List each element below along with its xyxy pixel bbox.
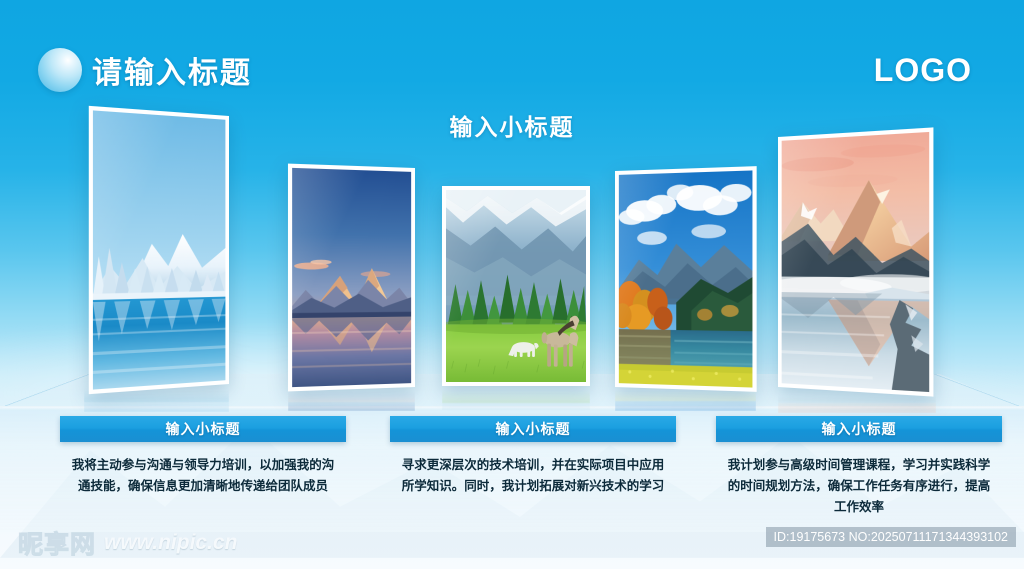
- photo-panel-3[interactable]: [442, 186, 590, 386]
- card-body-text: 我将主动参与沟通与领导力培训，以加强我的沟通技能，确保信息更加清晰地传递给团队成…: [60, 455, 346, 497]
- photo-panel-2[interactable]: [288, 164, 415, 392]
- watermark-url: www.nipic.cn: [104, 531, 237, 555]
- winter-snow-lake-photo: [93, 110, 225, 389]
- content-cards: 输入小标题 我将主动参与沟通与领导力培训，以加强我的沟通技能，确保信息更加清晰地…: [0, 406, 1024, 532]
- slide-background: 请输入标题 LOGO 输入小标题: [0, 0, 1024, 569]
- card-body-text: 寻求更深层次的技术培训，并在实际项目中应用所学知识。同时，我计划拓展对新兴技术的…: [390, 455, 676, 497]
- photo-panel-4[interactable]: [615, 166, 757, 392]
- watermark: 昵享网 www.nipic.cn: [18, 525, 237, 561]
- card-title: 输入小标题: [60, 416, 346, 442]
- content-card[interactable]: 输入小标题 我计划参与高级时间管理课程，学习并实践科学的时间规划方法，确保工作任…: [716, 416, 1002, 518]
- content-card[interactable]: 输入小标题 寻求更深层次的技术培训，并在实际项目中应用所学知识。同时，我计划拓展…: [390, 416, 676, 497]
- watermark-id: ID:19175673 NO:20250711171344393102: [766, 527, 1016, 547]
- autumn-lake-blue-sky-photo: [619, 170, 753, 387]
- green-meadow-horses-mountain-photo: [446, 190, 586, 382]
- card-title: 输入小标题: [716, 416, 1002, 442]
- alpenglow-sunrise-mountain-lake-photo: [782, 132, 930, 392]
- card-title: 输入小标题: [390, 416, 676, 442]
- card-body-text: 我计划参与高级时间管理课程，学习并实践科学的时间规划方法，确保工作任务有序进行，…: [716, 455, 1002, 518]
- watermark-logo: 昵享网: [18, 525, 96, 561]
- photo-panel-5[interactable]: [778, 127, 933, 396]
- content-card[interactable]: 输入小标题 我将主动参与沟通与领导力培训，以加强我的沟通技能，确保信息更加清晰地…: [60, 416, 346, 497]
- photo-panel-1[interactable]: [89, 106, 229, 394]
- sunset-mountain-reflection-photo: [292, 168, 411, 387]
